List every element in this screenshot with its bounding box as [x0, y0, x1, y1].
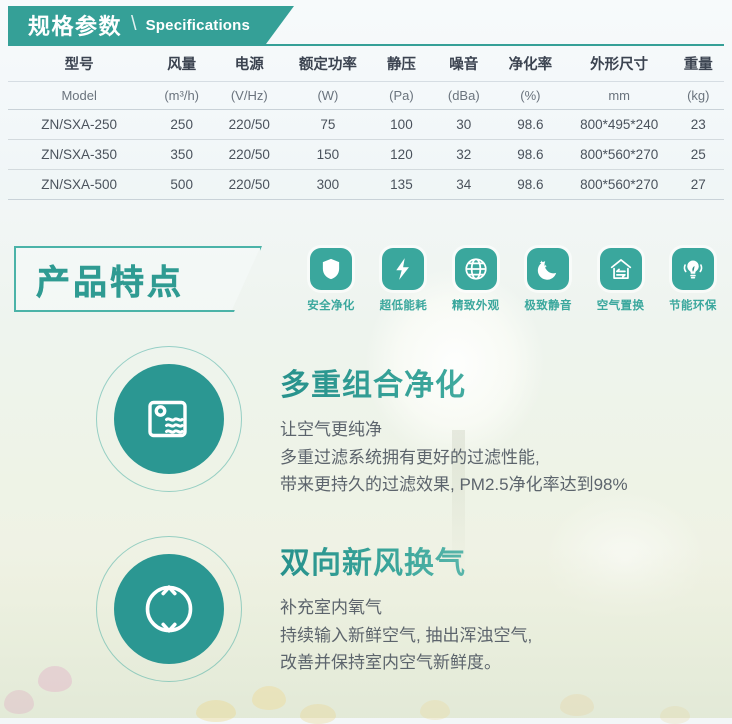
feature-icon-item-ultra-quiet[interactable]: 极致静音 — [517, 248, 579, 313]
column-header-weight: 重量 — [673, 46, 724, 82]
spec-banner-title-cn: 规格参数 — [28, 9, 122, 41]
feature-line: 让空气更纯净 — [280, 416, 628, 444]
column-unit-purification-rate: (%) — [495, 82, 566, 110]
house-exchange-icon — [600, 248, 642, 290]
cell-weight: 23 — [673, 110, 724, 140]
feature-icon-item-air-exchange[interactable]: 空气置换 — [590, 248, 652, 313]
column-unit-dimensions: mm — [566, 82, 673, 110]
cell-rated-power: 75 — [285, 110, 370, 140]
specifications-table: 型号 风量 电源 额定功率 静压 噪音 净化率 外形尺寸 重量 Model (m… — [8, 44, 724, 200]
cell-model: ZN/SXA-250 — [8, 110, 150, 140]
table-row: ZN/SXA-350 350 220/50 150 120 32 98.6 80… — [8, 140, 724, 170]
column-header-rated-power: 额定功率 — [285, 46, 370, 82]
cell-weight: 25 — [673, 140, 724, 170]
feature-description: 让空气更纯净 多重过滤系统拥有更好的过滤性能, 带来更持久的过滤效果, PM2.… — [280, 416, 628, 499]
feature-title: 双向新风换气 — [280, 538, 532, 582]
cell-dimensions: 800*560*270 — [566, 140, 673, 170]
cell-weight: 27 — [673, 170, 724, 200]
cell-static-pressure: 135 — [370, 170, 432, 200]
column-unit-model: Model — [8, 82, 150, 110]
cell-model: ZN/SXA-350 — [8, 140, 150, 170]
cell-power-supply: 220/50 — [213, 140, 285, 170]
feature-description: 补充室内氧气 持续输入新鲜空气, 抽出浑浊空气, 改善并保持室内空气新鲜度。 — [280, 594, 532, 677]
feature-line: 补充室内氧气 — [280, 594, 532, 622]
column-header-static-pressure: 静压 — [370, 46, 432, 82]
globe-icon — [455, 248, 497, 290]
feature-icon-label: 安全净化 — [307, 297, 355, 313]
feature-icon-row: 安全净化 超低能耗 精致外观 — [300, 248, 724, 313]
column-header-dimensions: 外形尺寸 — [566, 46, 673, 82]
column-header-power-supply: 电源 — [213, 46, 285, 82]
feature-line: 多重过滤系统拥有更好的过滤性能, — [280, 444, 628, 472]
cell-power-supply: 220/50 — [213, 170, 285, 200]
feature-icon-label: 极致静音 — [524, 297, 572, 313]
cell-purification-rate: 98.6 — [495, 140, 566, 170]
shield-icon — [310, 248, 352, 290]
cell-static-pressure: 100 — [370, 110, 432, 140]
column-unit-airflow: (m³/h) — [150, 82, 213, 110]
cell-airflow: 250 — [150, 110, 213, 140]
cell-model: ZN/SXA-500 — [8, 170, 150, 200]
cell-noise: 32 — [433, 140, 495, 170]
circular-exchange-icon — [96, 536, 242, 682]
cell-rated-power: 300 — [285, 170, 370, 200]
cell-noise: 34 — [433, 170, 495, 200]
feature-text-multi-filtration: 多重组合净化 让空气更纯净 多重过滤系统拥有更好的过滤性能, 带来更持久的过滤效… — [280, 360, 628, 499]
cell-power-supply: 220/50 — [213, 110, 285, 140]
cell-airflow: 350 — [150, 140, 213, 170]
column-header-noise: 噪音 — [433, 46, 495, 82]
column-header-purification-rate: 净化率 — [495, 46, 566, 82]
filter-airflow-icon — [96, 346, 242, 492]
spec-banner-title-en: Specifications — [146, 17, 251, 34]
feature-title: 多重组合净化 — [280, 360, 628, 404]
feature-icon-item-low-energy[interactable]: 超低能耗 — [372, 248, 434, 313]
specifications-banner: 规格参数 \ Specifications — [8, 6, 294, 44]
cell-purification-rate: 98.6 — [495, 110, 566, 140]
icon-disc — [114, 554, 224, 664]
column-unit-power-supply: (V/Hz) — [213, 82, 285, 110]
feature-line: 持续输入新鲜空气, 抽出浑浊空气, — [280, 622, 532, 650]
column-header-model: 型号 — [8, 46, 150, 82]
product-spec-page: 规格参数 \ Specifications 型号 风量 电源 额定功率 静压 噪… — [0, 0, 732, 718]
features-banner-title: 产品特点 — [36, 255, 184, 304]
feature-text-bidirectional-ventilation: 双向新风换气 补充室内氧气 持续输入新鲜空气, 抽出浑浊空气, 改善并保持室内空… — [280, 538, 532, 677]
feature-icon-item-energy-saving[interactable]: 节能环保 — [662, 248, 724, 313]
cell-static-pressure: 120 — [370, 140, 432, 170]
lightbulb-leaf-icon — [672, 248, 714, 290]
column-unit-rated-power: (W) — [285, 82, 370, 110]
cell-noise: 30 — [433, 110, 495, 140]
feature-icon-label: 空气置换 — [597, 297, 645, 313]
cell-dimensions: 800*560*270 — [566, 170, 673, 200]
feature-line: 改善并保持室内空气新鲜度。 — [280, 649, 532, 677]
lightning-bolt-icon — [382, 248, 424, 290]
column-header-airflow: 风量 — [150, 46, 213, 82]
table-header-row-names: 型号 风量 电源 额定功率 静压 噪音 净化率 外形尺寸 重量 — [8, 46, 724, 82]
feature-icon-label: 超低能耗 — [380, 297, 428, 313]
table-header-row-units: Model (m³/h) (V/Hz) (W) (Pa) (dBa) (%) m… — [8, 82, 724, 110]
moon-stars-icon — [527, 248, 569, 290]
cell-dimensions: 800*495*240 — [566, 110, 673, 140]
cell-purification-rate: 98.6 — [495, 170, 566, 200]
feature-line: 带来更持久的过滤效果, PM2.5净化率达到98% — [280, 471, 628, 499]
cell-airflow: 500 — [150, 170, 213, 200]
feature-icon-item-safe-purification[interactable]: 安全净化 — [300, 248, 362, 313]
column-unit-weight: (kg) — [673, 82, 724, 110]
feature-icon-label: 精致外观 — [452, 297, 500, 313]
table-row: ZN/SXA-500 500 220/50 300 135 34 98.6 80… — [8, 170, 724, 200]
spec-banner-separator: \ — [131, 13, 137, 36]
feature-icon-item-fine-appearance[interactable]: 精致外观 — [445, 248, 507, 313]
product-features-banner: 产品特点 — [14, 246, 262, 312]
column-unit-noise: (dBa) — [433, 82, 495, 110]
column-unit-static-pressure: (Pa) — [370, 82, 432, 110]
table-row: ZN/SXA-250 250 220/50 75 100 30 98.6 800… — [8, 110, 724, 140]
cell-rated-power: 150 — [285, 140, 370, 170]
feature-icon-label: 节能环保 — [669, 297, 717, 313]
icon-disc — [114, 364, 224, 474]
